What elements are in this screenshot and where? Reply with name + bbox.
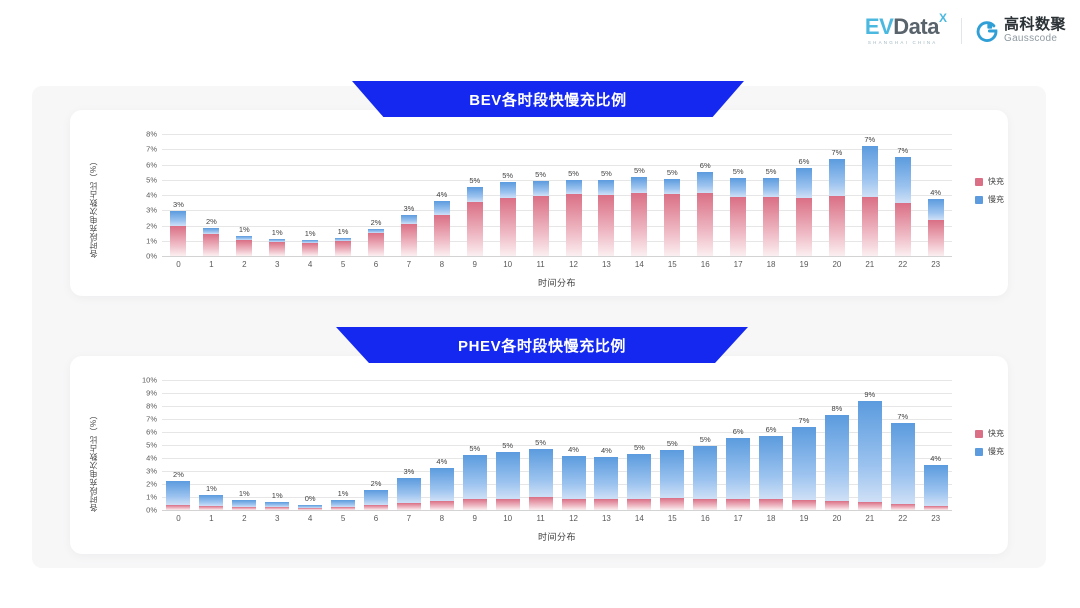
- bar-segment-slow-charge[interactable]: [496, 452, 520, 499]
- bar-segment-slow-charge[interactable]: [594, 457, 618, 499]
- bar-segment-slow-charge[interactable]: [664, 179, 680, 194]
- y-axis-tick-label: 7%: [146, 145, 157, 154]
- legend-item-fast-charge[interactable]: 快充: [975, 428, 1004, 439]
- stacked-bar[interactable]: 2%: [203, 228, 219, 256]
- bar-value-label: 4%: [930, 188, 941, 197]
- bar-value-label: 7%: [897, 146, 908, 155]
- bar-segment-fast-charge[interactable]: [825, 501, 849, 510]
- y-axis-tick-label: 3%: [146, 206, 157, 215]
- gausscode-text: 高科数聚 Gausscode: [1004, 17, 1066, 44]
- bar-segment-fast-charge[interactable]: [533, 196, 549, 256]
- bar-segment-slow-charge[interactable]: [232, 500, 256, 507]
- bar-slot[interactable]: 4%23: [919, 380, 952, 510]
- bar-segment-fast-charge[interactable]: [598, 195, 614, 256]
- x-axis-tick-label: 7: [407, 260, 411, 269]
- bar-segment-slow-charge[interactable]: [401, 215, 417, 224]
- bar-segment-fast-charge[interactable]: [726, 499, 750, 510]
- bar-segment-fast-charge[interactable]: [430, 501, 454, 510]
- bar-segment-fast-charge[interactable]: [928, 220, 944, 256]
- bar-slot[interactable]: 1%2: [228, 380, 261, 510]
- x-axis-tick-label: 6: [374, 514, 378, 523]
- y-axis-tick-label: 8%: [146, 130, 157, 139]
- stacked-bar[interactable]: 4%: [562, 456, 586, 510]
- bar-slot[interactable]: 4%8: [425, 134, 458, 256]
- x-axis-tick-label: 15: [668, 260, 677, 269]
- x-axis-tick-label: 18: [767, 260, 776, 269]
- stacked-bar[interactable]: 5%: [730, 178, 746, 256]
- x-axis-tick-label: 5: [341, 514, 345, 523]
- bar-segment-slow-charge[interactable]: [858, 401, 882, 503]
- legend-item-slow-charge[interactable]: 慢充: [975, 446, 1004, 457]
- bar-segment-slow-charge[interactable]: [891, 423, 915, 504]
- bar-slot[interactable]: 4%8: [425, 380, 458, 510]
- stacked-bar[interactable]: 5%: [500, 182, 516, 256]
- legend-item-fast-charge[interactable]: 快充: [975, 176, 1004, 187]
- bar-segment-fast-charge[interactable]: [660, 498, 684, 510]
- stacked-bar[interactable]: 5%: [529, 449, 553, 510]
- evdata-logo-ev: EV: [865, 16, 893, 38]
- x-axis-tick-label: 17: [734, 260, 743, 269]
- bar-slot[interactable]: 7%19: [788, 380, 821, 510]
- bar-slot[interactable]: 4%12: [557, 380, 590, 510]
- bar-segment-fast-charge[interactable]: [236, 240, 252, 256]
- bar-slot[interactable]: 5%13: [590, 134, 623, 256]
- bar-segment-fast-charge[interactable]: [166, 505, 190, 510]
- bar-slot[interactable]: 5%14: [623, 134, 656, 256]
- bar-slot[interactable]: 7%21: [853, 134, 886, 256]
- bar-value-label: 3%: [173, 200, 184, 209]
- x-axis-tick-label: 20: [832, 514, 841, 523]
- stacked-bar[interactable]: 6%: [726, 438, 750, 510]
- bar-slot[interactable]: 2%0: [162, 380, 195, 510]
- bar-segment-fast-charge[interactable]: [792, 500, 816, 510]
- y-axis-tick-label: 8%: [146, 402, 157, 411]
- stacked-bar[interactable]: 7%: [895, 157, 911, 256]
- bar-segment-slow-charge[interactable]: [726, 438, 750, 499]
- bar-segment-fast-charge[interactable]: [862, 197, 878, 256]
- bar-slot[interactable]: 6%17: [722, 380, 755, 510]
- bar-slot[interactable]: 1%3: [261, 380, 294, 510]
- stacked-bar[interactable]: 1%: [232, 500, 256, 510]
- y-axis-tick-label: 7%: [146, 415, 157, 424]
- legend-label: 快充: [988, 428, 1004, 439]
- stacked-bar[interactable]: 1%: [335, 238, 351, 256]
- bar-segment-fast-charge[interactable]: [269, 242, 285, 256]
- bar-value-label: 7%: [864, 135, 875, 144]
- bar-slot[interactable]: 2%6: [360, 134, 393, 256]
- stacked-bar[interactable]: 5%: [463, 455, 487, 510]
- x-axis-tick-label: 7: [407, 514, 411, 523]
- bar-segment-fast-charge[interactable]: [763, 197, 779, 256]
- bar-segment-slow-charge[interactable]: [631, 177, 647, 193]
- bar-slot[interactable]: 2%6: [360, 380, 393, 510]
- bar-slot[interactable]: 0%4: [294, 380, 327, 510]
- bar-slot[interactable]: 1%3: [261, 134, 294, 256]
- y-axis-title: 各时段充电次数占比（%）: [88, 128, 99, 258]
- bar-slot[interactable]: 2%1: [195, 134, 228, 256]
- bar-segment-fast-charge[interactable]: [331, 507, 355, 510]
- stacked-bar[interactable]: 5%: [627, 454, 651, 510]
- y-axis-tick-label: 2%: [146, 480, 157, 489]
- bar-segment-fast-charge[interactable]: [368, 233, 384, 256]
- bar-segment-slow-charge[interactable]: [693, 446, 717, 498]
- bar-segment-fast-charge[interactable]: [697, 193, 713, 256]
- bar-segment-fast-charge[interactable]: [401, 224, 417, 256]
- bar-slot[interactable]: 5%15: [656, 380, 689, 510]
- bar-slot[interactable]: 7%20: [820, 134, 853, 256]
- bar-segment-slow-charge[interactable]: [763, 178, 779, 198]
- chart-bev: 各时段充电次数占比（%）0%1%2%3%4%5%6%7%8%3%02%11%21…: [70, 110, 1008, 296]
- legend-swatch: [975, 448, 983, 456]
- bar-value-label: 2%: [173, 470, 184, 479]
- y-axis-tick-label: 10%: [142, 376, 157, 385]
- bar-segment-fast-charge[interactable]: [664, 194, 680, 256]
- y-axis-tick-label: 9%: [146, 389, 157, 398]
- bar-value-label: 5%: [766, 167, 777, 176]
- bar-slot[interactable]: 6%18: [755, 380, 788, 510]
- gausscode-name-en: Gausscode: [1004, 34, 1066, 44]
- bar-segment-fast-charge[interactable]: [594, 499, 618, 510]
- x-axis-tick-label: 22: [898, 260, 907, 269]
- x-axis-tick-label: 2: [242, 260, 246, 269]
- bar-segment-slow-charge[interactable]: [697, 172, 713, 193]
- x-axis-tick-label: 15: [668, 514, 677, 523]
- bar-segment-slow-charge[interactable]: [170, 211, 186, 226]
- stacked-bar[interactable]: 6%: [759, 436, 783, 510]
- bar-slot[interactable]: 9%21: [853, 380, 886, 510]
- bar-segment-slow-charge[interactable]: [500, 182, 516, 198]
- bar-segment-slow-charge[interactable]: [829, 159, 845, 195]
- bar-value-label: 5%: [634, 443, 645, 452]
- bar-segment-fast-charge[interactable]: [829, 196, 845, 256]
- y-axis-tick-label: 4%: [146, 191, 157, 200]
- stacked-bar[interactable]: 5%: [693, 446, 717, 510]
- bar-segment-slow-charge[interactable]: [862, 146, 878, 197]
- x-axis-tick-label: 3: [275, 260, 279, 269]
- bar-slot[interactable]: 5%11: [524, 134, 557, 256]
- bar-segment-slow-charge[interactable]: [467, 187, 483, 202]
- bar-segment-slow-charge[interactable]: [199, 495, 223, 506]
- stacked-bar[interactable]: 4%: [928, 199, 944, 256]
- x-axis-tick-label: 4: [308, 260, 312, 269]
- bar-slot[interactable]: 5%10: [491, 134, 524, 256]
- bar-segment-fast-charge[interactable]: [232, 507, 256, 510]
- stacked-bar[interactable]: 6%: [697, 172, 713, 256]
- stacked-bar[interactable]: 4%: [430, 468, 454, 510]
- bar-value-label: 1%: [272, 228, 283, 237]
- stacked-bar[interactable]: 4%: [434, 201, 450, 256]
- x-axis-tick-label: 11: [536, 260, 544, 269]
- bar-slot[interactable]: 5%9: [458, 134, 491, 256]
- bar-segment-fast-charge[interactable]: [730, 197, 746, 256]
- bar-segment-slow-charge[interactable]: [627, 454, 651, 499]
- bar-value-label: 6%: [733, 427, 744, 436]
- bar-segment-fast-charge[interactable]: [895, 203, 911, 256]
- stacked-bar[interactable]: 3%: [397, 478, 421, 510]
- bar-segment-slow-charge[interactable]: [759, 436, 783, 498]
- x-axis-tick-label: 10: [503, 260, 512, 269]
- bar-segment-fast-charge[interactable]: [335, 241, 351, 256]
- stacked-bar[interactable]: 1%: [265, 502, 289, 510]
- x-axis-tick-label: 1: [209, 260, 213, 269]
- bar-segment-fast-charge[interactable]: [467, 202, 483, 256]
- bar-segment-slow-charge[interactable]: [430, 468, 454, 501]
- bar-segment-slow-charge[interactable]: [730, 178, 746, 197]
- bar-segment-fast-charge[interactable]: [627, 499, 651, 510]
- stacked-bar[interactable]: 6%: [796, 168, 812, 256]
- chart-card-phev: 各时段充电次数占比（%）0%1%2%3%4%5%6%7%8%9%10%2%01%…: [70, 356, 1008, 554]
- bar-slot[interactable]: 1%5: [327, 134, 360, 256]
- bar-segment-fast-charge[interactable]: [891, 504, 915, 510]
- bar-segment-fast-charge[interactable]: [631, 193, 647, 256]
- bar-slot[interactable]: 5%17: [722, 134, 755, 256]
- bar-segment-fast-charge[interactable]: [693, 499, 717, 510]
- y-axis-tick-label: 0%: [146, 506, 157, 515]
- stacked-bar[interactable]: 7%: [891, 423, 915, 510]
- bar-slot[interactable]: 5%15: [656, 134, 689, 256]
- x-axis-title: 时间分布: [162, 276, 952, 289]
- bar-segment-slow-charge[interactable]: [660, 450, 684, 498]
- stacked-bar[interactable]: 2%: [166, 481, 190, 510]
- stacked-bar[interactable]: 3%: [401, 215, 417, 256]
- stacked-bar[interactable]: 3%: [170, 211, 186, 256]
- stacked-bar[interactable]: 7%: [829, 159, 845, 256]
- bar-value-label: 4%: [601, 446, 612, 455]
- bar-value-label: 3%: [403, 467, 414, 476]
- stacked-bar[interactable]: 9%: [858, 401, 882, 510]
- bar-segment-slow-charge[interactable]: [397, 478, 421, 502]
- bar-segment-fast-charge[interactable]: [265, 507, 289, 510]
- bar-value-label: 5%: [469, 444, 480, 453]
- bar-segment-slow-charge[interactable]: [796, 168, 812, 198]
- bar-slot[interactable]: 5%14: [623, 380, 656, 510]
- bar-slot[interactable]: 5%18: [755, 134, 788, 256]
- stacked-bar[interactable]: 5%: [566, 180, 582, 256]
- chart-legend: 快充慢充: [975, 176, 1004, 205]
- bar-slot[interactable]: 1%2: [228, 134, 261, 256]
- bar-segment-slow-charge[interactable]: [928, 199, 944, 220]
- bar-segment-slow-charge[interactable]: [825, 415, 849, 501]
- y-axis-tick-label: 3%: [146, 467, 157, 476]
- gausscode-name-cn: 高科数聚: [1004, 17, 1066, 32]
- bar-value-label: 1%: [305, 229, 316, 238]
- x-axis-tick-label: 21: [865, 260, 874, 269]
- bar-segment-fast-charge[interactable]: [924, 506, 948, 510]
- bar-value-label: 6%: [766, 425, 777, 434]
- legend-label: 快充: [988, 176, 1004, 187]
- stacked-bar[interactable]: 5%: [467, 187, 483, 256]
- stacked-bar[interactable]: 1%: [269, 239, 285, 256]
- bar-value-label: 4%: [568, 445, 579, 454]
- bar-slot[interactable]: 5%9: [458, 380, 491, 510]
- y-axis-tick-label: 2%: [146, 221, 157, 230]
- bar-segment-fast-charge[interactable]: [463, 499, 487, 510]
- bar-segment-slow-charge[interactable]: [331, 500, 355, 507]
- x-axis-tick-label: 3: [275, 514, 279, 523]
- evdata-x-icon: X: [939, 12, 947, 24]
- bar-segment-fast-charge[interactable]: [364, 505, 388, 510]
- bar-slot[interactable]: 8%20: [820, 380, 853, 510]
- bar-group: 3%02%11%21%31%41%52%63%74%85%95%105%115%…: [162, 134, 952, 256]
- bar-slot[interactable]: 4%13: [590, 380, 623, 510]
- bar-slot[interactable]: 5%11: [524, 380, 557, 510]
- bar-segment-fast-charge[interactable]: [759, 499, 783, 510]
- bar-slot[interactable]: 3%0: [162, 134, 195, 256]
- bar-value-label: 1%: [239, 225, 250, 234]
- bar-value-label: 5%: [568, 169, 579, 178]
- bar-segment-fast-charge[interactable]: [858, 502, 882, 510]
- x-axis-tick-label: 16: [701, 514, 710, 523]
- bar-value-label: 9%: [864, 390, 875, 399]
- chart-card-bev: 各时段充电次数占比（%）0%1%2%3%4%5%6%7%8%3%02%11%21…: [70, 110, 1008, 296]
- bar-slot[interactable]: 3%7: [392, 134, 425, 256]
- x-axis-tick-label: 11: [536, 514, 544, 523]
- stacked-bar[interactable]: 4%: [924, 465, 948, 510]
- x-axis-tick-label: 9: [473, 260, 477, 269]
- bar-value-label: 4%: [930, 454, 941, 463]
- legend-swatch: [975, 178, 983, 186]
- stacked-bar[interactable]: 4%: [594, 457, 618, 510]
- bar-segment-fast-charge[interactable]: [170, 226, 186, 256]
- x-axis-tick-label: 10: [503, 514, 512, 523]
- bar-segment-slow-charge[interactable]: [895, 157, 911, 204]
- x-axis-tick-label: 4: [308, 514, 312, 523]
- bar-value-label: 4%: [436, 190, 447, 199]
- bar-segment-fast-charge[interactable]: [302, 243, 318, 256]
- banner-title-phev: PHEV各时段快慢充比例: [336, 327, 748, 363]
- bar-segment-slow-charge[interactable]: [598, 180, 614, 195]
- bar-segment-fast-charge[interactable]: [529, 497, 553, 510]
- x-axis-tick-label: 8: [440, 514, 444, 523]
- x-axis-line: [162, 510, 952, 511]
- x-axis-tick-label: 12: [569, 260, 578, 269]
- bar-slot[interactable]: 6%16: [689, 134, 722, 256]
- chart-legend: 快充慢充: [975, 428, 1004, 457]
- stacked-bar[interactable]: 1%: [302, 240, 318, 256]
- stacked-bar[interactable]: 1%: [236, 236, 252, 256]
- bar-value-label: 5%: [502, 171, 513, 180]
- stacked-bar[interactable]: 5%: [533, 181, 549, 256]
- stacked-bar[interactable]: 2%: [364, 490, 388, 510]
- stacked-bar[interactable]: 8%: [825, 415, 849, 510]
- bar-segment-slow-charge[interactable]: [924, 465, 948, 506]
- stacked-bar[interactable]: 1%: [331, 500, 355, 510]
- stacked-bar[interactable]: 1%: [199, 495, 223, 510]
- bar-segment-slow-charge[interactable]: [463, 455, 487, 498]
- bar-value-label: 5%: [535, 170, 546, 179]
- evdata-wordmark: EV Data X: [865, 16, 947, 38]
- evdata-logo-data: Data: [893, 16, 939, 38]
- bar-value-label: 1%: [272, 491, 283, 500]
- bar-segment-fast-charge[interactable]: [434, 215, 450, 256]
- y-axis-tick-label: 5%: [146, 175, 157, 184]
- x-axis-tick-label: 2: [242, 514, 246, 523]
- stacked-bar[interactable]: 5%: [664, 179, 680, 256]
- stacked-bar[interactable]: 5%: [598, 180, 614, 256]
- x-axis-tick-label: 14: [635, 514, 644, 523]
- x-axis-tick-label: 23: [931, 514, 940, 523]
- bar-segment-fast-charge[interactable]: [566, 194, 582, 256]
- stacked-bar[interactable]: 5%: [631, 177, 647, 256]
- bar-value-label: 8%: [831, 404, 842, 413]
- bar-segment-fast-charge[interactable]: [562, 499, 586, 510]
- bar-value-label: 5%: [502, 441, 513, 450]
- bar-segment-fast-charge[interactable]: [500, 198, 516, 256]
- bar-segment-fast-charge[interactable]: [397, 503, 421, 510]
- stacked-bar[interactable]: 0%: [298, 505, 322, 510]
- bar-slot[interactable]: 5%12: [557, 134, 590, 256]
- bar-segment-slow-charge[interactable]: [434, 201, 450, 214]
- stacked-bar[interactable]: 7%: [792, 427, 816, 510]
- bar-slot[interactable]: 4%23: [919, 134, 952, 256]
- bar-slot[interactable]: 1%1: [195, 380, 228, 510]
- stacked-bar[interactable]: 7%: [862, 146, 878, 256]
- x-axis-tick-label: 19: [800, 514, 809, 523]
- header-logo-group: EV Data X SHANGHAI CHINA 高科数聚 Gausscode: [865, 16, 1066, 45]
- bar-segment-fast-charge[interactable]: [199, 506, 223, 510]
- legend-label: 慢充: [988, 194, 1004, 205]
- x-axis-tick-label: 17: [734, 514, 743, 523]
- x-axis-tick-label: 6: [374, 260, 378, 269]
- bar-value-label: 7%: [831, 148, 842, 157]
- bar-slot[interactable]: 1%4: [294, 134, 327, 256]
- x-axis-tick-label: 13: [602, 260, 611, 269]
- bar-segment-fast-charge[interactable]: [796, 198, 812, 256]
- bar-segment-fast-charge[interactable]: [203, 234, 219, 256]
- x-axis-tick-label: 19: [800, 260, 809, 269]
- bar-value-label: 2%: [371, 218, 382, 227]
- stacked-bar[interactable]: 2%: [368, 229, 384, 256]
- bar-slot[interactable]: 5%16: [689, 380, 722, 510]
- bar-value-label: 1%: [206, 484, 217, 493]
- bar-value-label: 1%: [338, 227, 349, 236]
- bar-segment-slow-charge[interactable]: [529, 449, 553, 497]
- bar-slot[interactable]: 7%22: [886, 380, 919, 510]
- bar-slot[interactable]: 6%19: [788, 134, 821, 256]
- bar-slot[interactable]: 7%22: [886, 134, 919, 256]
- bar-segment-slow-charge[interactable]: [792, 427, 816, 500]
- bar-value-label: 5%: [634, 166, 645, 175]
- stacked-bar[interactable]: 5%: [660, 450, 684, 510]
- x-axis-tick-label: 5: [341, 260, 345, 269]
- chart-phev: 各时段充电次数占比（%）0%1%2%3%4%5%6%7%8%9%10%2%01%…: [70, 356, 1008, 554]
- plot-area: 0%1%2%3%4%5%6%7%8%3%02%11%21%31%41%52%63…: [162, 134, 952, 256]
- legend-swatch: [975, 430, 983, 438]
- bar-segment-fast-charge[interactable]: [496, 499, 520, 510]
- bar-segment-slow-charge[interactable]: [364, 490, 388, 505]
- bar-value-label: 4%: [436, 457, 447, 466]
- stacked-bar[interactable]: 5%: [496, 452, 520, 510]
- x-axis-tick-label: 12: [569, 514, 578, 523]
- bar-value-label: 0%: [305, 494, 316, 503]
- bar-slot[interactable]: 3%7: [392, 380, 425, 510]
- bar-slot[interactable]: 5%10: [491, 380, 524, 510]
- bar-segment-slow-charge[interactable]: [533, 181, 549, 195]
- logo-divider: [961, 18, 962, 44]
- y-axis-tick-label: 1%: [146, 236, 157, 245]
- stacked-bar[interactable]: 5%: [763, 178, 779, 256]
- bar-value-label: 1%: [338, 489, 349, 498]
- bar-segment-slow-charge[interactable]: [566, 180, 582, 194]
- bar-segment-fast-charge[interactable]: [298, 508, 322, 510]
- bar-value-label: 1%: [239, 489, 250, 498]
- legend-item-slow-charge[interactable]: 慢充: [975, 194, 1004, 205]
- bar-group: 2%01%11%21%30%41%52%63%74%85%95%105%114%…: [162, 380, 952, 510]
- bar-segment-slow-charge[interactable]: [166, 481, 190, 504]
- x-axis-tick-label: 0: [176, 514, 180, 523]
- bar-slot[interactable]: 1%5: [327, 380, 360, 510]
- bar-segment-slow-charge[interactable]: [562, 456, 586, 499]
